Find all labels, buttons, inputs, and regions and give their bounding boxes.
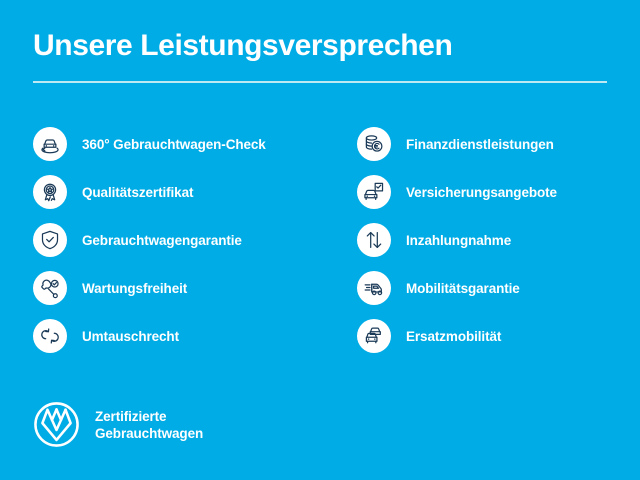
features-grid: 360° Gebrauchtwagen-Check Qualitätszerti…: [0, 120, 640, 360]
feature-item[interactable]: Wartungsfreiheit: [33, 264, 320, 312]
feature-item[interactable]: Umtauschrecht: [33, 312, 320, 360]
feature-label: Gebrauchtwagengarantie: [82, 232, 242, 249]
shield-check-icon: [33, 223, 67, 257]
feature-item[interactable]: Qualitätszertifikat: [33, 168, 320, 216]
feature-label: 360° Gebrauchtwagen-Check: [82, 136, 266, 153]
promo-poster: Unsere Leistungsversprechen 360° Gebrauc: [0, 0, 640, 480]
feature-item[interactable]: Versicherungsangebote: [357, 168, 640, 216]
feature-item[interactable]: Mobilitätsgarantie: [357, 264, 640, 312]
feature-label: Mobilitätsgarantie: [406, 280, 520, 297]
features-column-right: Finanzdienstleistungen Versicherungsange…: [320, 120, 640, 360]
feature-label: Inzahlungnahme: [406, 232, 511, 249]
brand-text: Zertifizierte Gebrauchtwagen: [95, 408, 203, 442]
feature-label: Finanzdienstleistungen: [406, 136, 554, 153]
feature-item[interactable]: Ersatzmobilität: [357, 312, 640, 360]
feature-item[interactable]: Gebrauchtwagengarantie: [33, 216, 320, 264]
award-rosette-icon: [33, 175, 67, 209]
brand-lockup: Zertifizierte Gebrauchtwagen: [33, 401, 203, 448]
vw-logo: [33, 401, 80, 448]
features-column-left: 360° Gebrauchtwagen-Check Qualitätszerti…: [0, 120, 320, 360]
feature-item[interactable]: Finanzdienstleistungen: [357, 120, 640, 168]
feature-item[interactable]: Inzahlungnahme: [357, 216, 640, 264]
header: Unsere Leistungsversprechen: [33, 28, 607, 83]
feature-label: Umtauschrecht: [82, 328, 179, 345]
van-motion-icon: [357, 271, 391, 305]
exchange-arrows-icon: [33, 319, 67, 353]
car-360-check-icon: [33, 127, 67, 161]
coins-euro-icon: [357, 127, 391, 161]
feature-label: Versicherungsangebote: [406, 184, 557, 201]
feature-label: Wartungsfreiheit: [82, 280, 187, 297]
feature-item[interactable]: 360° Gebrauchtwagen-Check: [33, 120, 320, 168]
brand-line-2: Gebrauchtwagen: [95, 425, 203, 442]
page-title: Unsere Leistungsversprechen: [33, 28, 607, 64]
brand-line-1: Zertifizierte: [95, 408, 203, 425]
wrench-check-icon: [33, 271, 67, 305]
feature-label: Qualitätszertifikat: [82, 184, 193, 201]
car-document-icon: [357, 175, 391, 209]
two-cars-icon: [357, 319, 391, 353]
feature-label: Ersatzmobilität: [406, 328, 501, 345]
title-divider: [33, 81, 607, 83]
up-down-arrows-icon: [357, 223, 391, 257]
